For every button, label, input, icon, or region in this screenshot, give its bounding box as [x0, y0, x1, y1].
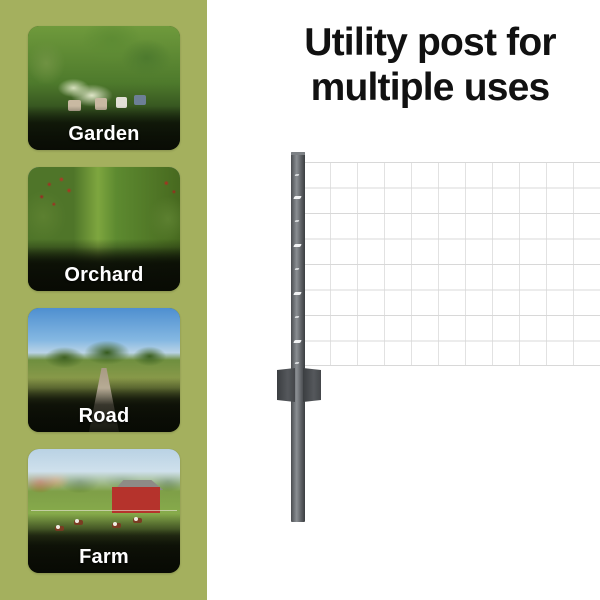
- use-case-card-orchard[interactable]: Orchard: [28, 167, 180, 291]
- page-title-line-2: multiple uses: [265, 65, 595, 110]
- post-shaft: [291, 152, 305, 522]
- use-case-label-road: Road: [28, 405, 180, 428]
- cow-3: [112, 523, 121, 528]
- product-panel: Utility post for multiple uses: [207, 0, 600, 600]
- page-title-line-1: Utility post for: [265, 20, 595, 65]
- anchor-plate-left-wing: [277, 368, 295, 402]
- mesh-bottom-wire: [303, 365, 600, 366]
- page-title: Utility post for multiple uses: [265, 20, 595, 110]
- wire-mesh-fence: [303, 162, 600, 366]
- garden-chair-4: [134, 95, 146, 105]
- post-anchor-plate: [277, 368, 321, 402]
- cow-2: [74, 520, 83, 525]
- anchor-plate-right-wing: [303, 368, 321, 402]
- use-case-card-list: Garden Orchard Road: [28, 26, 180, 590]
- use-case-card-garden[interactable]: Garden: [28, 26, 180, 150]
- use-case-card-road[interactable]: Road: [28, 308, 180, 432]
- utility-fence-post: [291, 152, 307, 522]
- use-cases-sidebar: Garden Orchard Road: [0, 0, 207, 600]
- use-case-card-farm[interactable]: Farm: [28, 449, 180, 573]
- cow-4: [133, 518, 142, 523]
- use-case-label-farm: Farm: [28, 546, 180, 569]
- use-case-label-orchard: Orchard: [28, 264, 180, 287]
- pasture-fence: [31, 510, 177, 511]
- use-case-label-garden: Garden: [28, 123, 180, 146]
- post-top-cap: [291, 152, 305, 155]
